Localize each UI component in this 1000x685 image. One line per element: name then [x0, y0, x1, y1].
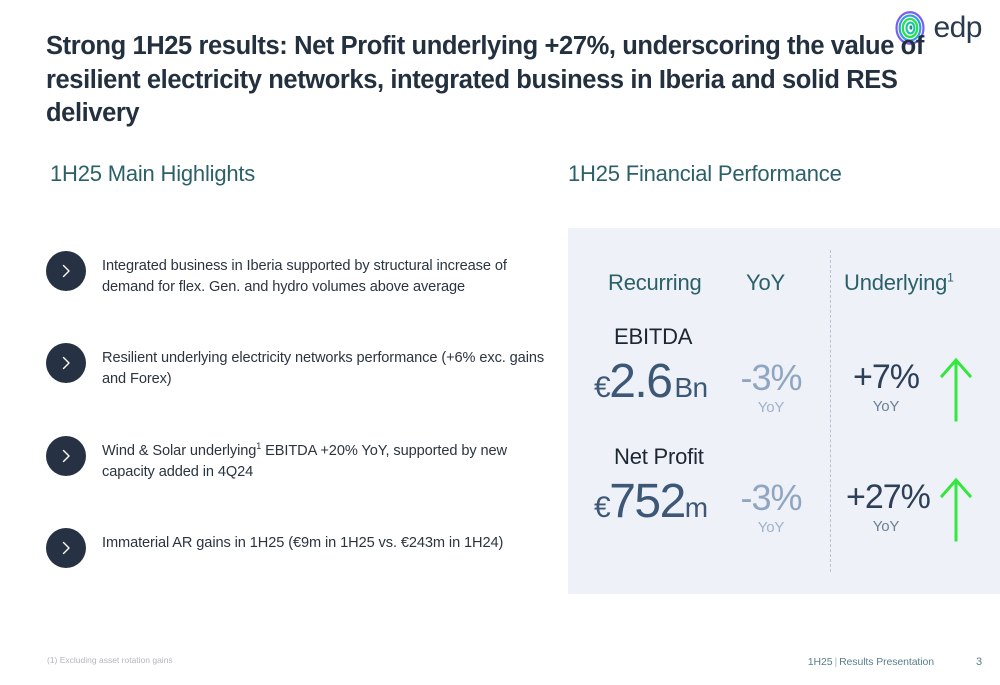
metric-unit: Bn — [674, 372, 707, 403]
list-item: Integrated business in Iberia supported … — [46, 250, 546, 297]
chevron-right-icon — [46, 251, 86, 291]
slide: edp Strong 1H25 results: Net Profit unde… — [0, 0, 1000, 685]
column-header-yoy: YoY — [746, 270, 785, 296]
column-header-underlying-label: Underlying — [844, 270, 947, 295]
list-item: Immaterial AR gains in 1H25 (€9m in 1H25… — [46, 527, 546, 568]
yoy-change-sublabel: YoY — [726, 519, 816, 536]
chevron-right-icon — [46, 343, 86, 383]
yoy-change-value: -3% — [726, 480, 816, 516]
underlying-change-sublabel: YoY — [846, 518, 926, 535]
footnote-marker: 1 — [947, 271, 953, 285]
highlight-text: Integrated business in Iberia supported … — [102, 250, 546, 297]
financial-performance-panel: Recurring YoY Underlying1 EBITDA €2.6 Bn… — [568, 228, 1000, 594]
yoy-change-value: -3% — [726, 360, 816, 396]
highlights-section-heading: 1H25 Main Highlights — [50, 161, 255, 187]
list-item: Resilient underlying electricity network… — [46, 342, 546, 389]
yoy-change-block: -3% YoY — [726, 480, 816, 536]
arrow-up-icon — [938, 356, 974, 422]
financial-section-heading: 1H25 Financial Performance — [568, 161, 842, 187]
underlying-change-value: +27% — [846, 480, 926, 514]
yoy-change-block: -3% YoY — [726, 360, 816, 416]
highlight-text: Wind & Solar underlying1 EBITDA +20% YoY… — [102, 435, 546, 482]
metric-number: 752 — [609, 475, 685, 528]
column-header-recurring: Recurring — [608, 270, 702, 296]
footer-period: 1H25 — [808, 656, 833, 668]
page-title: Strong 1H25 results: Net Profit underlyi… — [46, 30, 936, 131]
chevron-right-icon — [46, 528, 86, 568]
arrow-up-icon — [938, 476, 974, 542]
list-item: Wind & Solar underlying1 EBITDA +20% YoY… — [46, 435, 546, 482]
metric-unit: m — [685, 492, 708, 523]
metric-value: €2.6 Bn — [594, 354, 708, 409]
footer: 1H25|Results Presentation 3 — [808, 656, 982, 668]
metric-label: EBITDA — [614, 324, 692, 350]
financial-table-headers: Recurring YoY Underlying1 — [568, 270, 1000, 304]
underlying-change-text: +27% YoY — [846, 480, 926, 535]
underlying-change-block: +7% YoY — [846, 360, 974, 422]
brand-wordmark: edp — [933, 13, 982, 43]
chevron-right-icon — [46, 436, 86, 476]
highlight-text: Immaterial AR gains in 1H25 (€9m in 1H25… — [102, 527, 503, 554]
underlying-change-text: +7% YoY — [846, 360, 926, 415]
metric-number: 2.6 — [609, 355, 671, 408]
table-row: EBITDA €2.6 Bn -3% YoY +7% YoY — [568, 324, 1000, 444]
underlying-change-sublabel: YoY — [846, 398, 926, 415]
underlying-change-value: +7% — [846, 360, 926, 394]
yoy-change-sublabel: YoY — [726, 399, 816, 416]
footer-title: Results Presentation — [839, 656, 934, 668]
column-header-underlying: Underlying1 — [844, 270, 954, 296]
metric-value: €752m — [594, 474, 708, 529]
metric-label: Net Profit — [614, 444, 704, 470]
currency-symbol: € — [594, 491, 609, 524]
highlight-text: Resilient underlying electricity network… — [102, 342, 546, 389]
currency-symbol: € — [594, 371, 609, 404]
footnote: (1) Excluding asset rotation gains — [47, 655, 173, 665]
table-row: Net Profit €752m -3% YoY +27% YoY — [568, 444, 1000, 564]
page-number: 3 — [976, 656, 982, 668]
highlight-text-before: Wind & Solar underlying — [102, 443, 256, 459]
footer-document-label: 1H25|Results Presentation — [808, 656, 934, 668]
highlights-list: Integrated business in Iberia supported … — [46, 250, 546, 568]
underlying-change-block: +27% YoY — [846, 480, 974, 542]
